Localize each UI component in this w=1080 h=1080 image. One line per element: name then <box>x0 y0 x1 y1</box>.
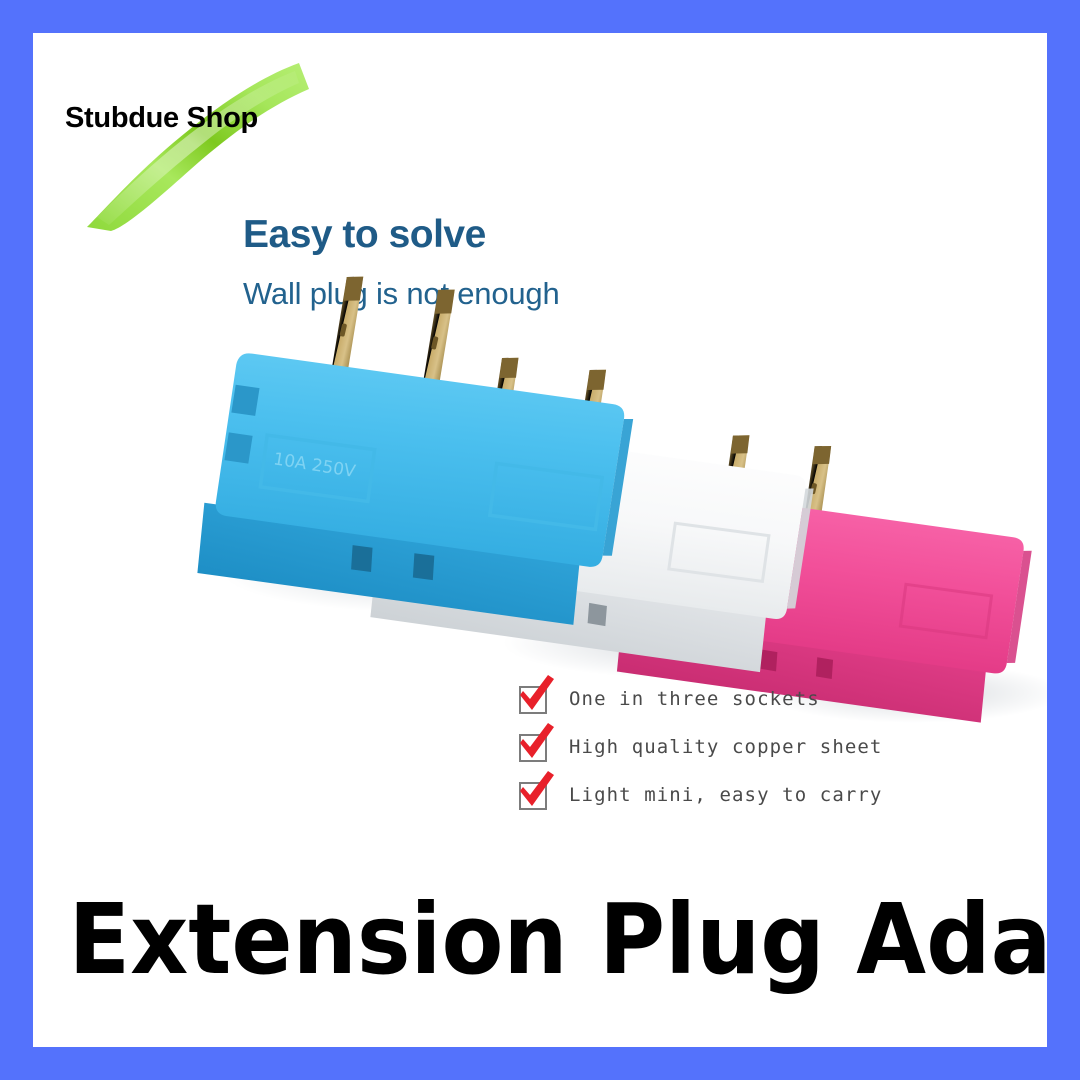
check-icon <box>513 672 557 716</box>
white-prong-right <box>566 366 614 479</box>
product-listing-image: Stubdue Shop Easy to solve Wall plug is … <box>0 0 1080 1080</box>
page-title: Extension Plug Adapter <box>68 891 1011 988</box>
svg-text:10A 250V: 10A 250V <box>272 449 357 482</box>
feature-label: Light mini, easy to carry <box>569 784 882 806</box>
feature-list: One in three sockets High quality copper… <box>517 675 917 819</box>
checkbox-checked <box>517 778 551 812</box>
white-adapter: 10A 250V <box>363 329 838 710</box>
feature-label: High quality copper sheet <box>569 736 882 758</box>
check-icon <box>513 720 557 764</box>
pink-prong-left <box>711 432 757 535</box>
svg-text:10A 250V: 10A 250V <box>444 503 520 532</box>
headline-primary: Easy to solve <box>243 213 486 257</box>
checkbox-checked <box>517 682 551 716</box>
headline-secondary: Wall plug is not enough <box>243 276 560 312</box>
svg-text:10A 250V: 10A 250V <box>687 563 763 592</box>
green-brush-stroke-icon <box>81 61 311 231</box>
shop-name: Stubdue Shop <box>65 102 258 135</box>
checkbox-checked <box>517 730 551 764</box>
pink-prong-right <box>793 442 839 545</box>
check-icon <box>513 768 557 812</box>
list-item: Light mini, easy to carry <box>517 771 917 819</box>
white-prong-left <box>478 354 526 467</box>
product-card: Stubdue Shop Easy to solve Wall plug is … <box>33 33 1047 1047</box>
feature-label: One in three sockets <box>569 688 820 710</box>
list-item: High quality copper sheet <box>517 723 917 771</box>
list-item: One in three sockets <box>517 675 917 723</box>
